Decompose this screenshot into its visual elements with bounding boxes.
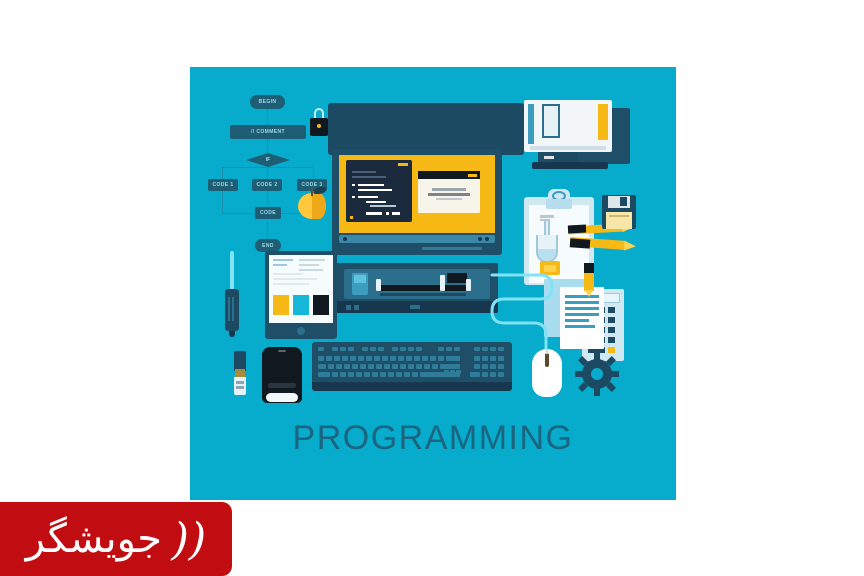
flow-node-code1[interactable]: CODE 1 [208, 179, 238, 191]
padlock-icon [310, 108, 328, 136]
flow-connector [267, 109, 268, 125]
code-editor-window[interactable] [346, 160, 412, 222]
flow-node-comment[interactable]: // COMMENT [230, 125, 306, 139]
gear-icon[interactable] [575, 352, 619, 396]
flow-connector [267, 221, 268, 239]
tablet-swatch [293, 295, 309, 315]
tablet-swatch [313, 295, 329, 315]
computer-mouse-icon[interactable] [532, 349, 562, 397]
logo-text: جویشگر [26, 519, 168, 559]
flow-node-code[interactable]: CODE [255, 207, 281, 219]
pencil-icon [582, 263, 596, 297]
flow-node-code2[interactable]: CODE 2 [252, 179, 282, 191]
orange-fruit-icon [298, 187, 328, 219]
flow-connector [267, 167, 268, 179]
logo-mark: )) [167, 514, 212, 565]
screwdriver-icon [225, 251, 239, 337]
desk-backdrop [328, 103, 524, 155]
flow-connector [222, 167, 314, 168]
flow-node-begin[interactable]: BEGIN [250, 95, 285, 109]
screenshot-root: BEGIN // COMMENT IF CODE 1 CODE 2 CODE 3… [0, 0, 864, 576]
flow-node-if[interactable]: IF [246, 153, 290, 167]
flow-connector [267, 191, 268, 205]
jooyeshgar-logo[interactable]: جویشگر )) [0, 502, 232, 576]
tablet-swatch [273, 295, 289, 315]
keyboard-icon[interactable] [312, 342, 512, 394]
tablet-icon[interactable] [265, 251, 337, 339]
browser-window[interactable] [418, 171, 480, 213]
flow-connector [313, 167, 314, 179]
page-title: PROGRAMMING [190, 419, 676, 458]
flow-connector [267, 139, 268, 153]
smartphone-icon[interactable] [262, 347, 302, 403]
printer-icon [524, 100, 630, 172]
pc-tower [336, 263, 498, 321]
programming-illustration: BEGIN // COMMENT IF CODE 1 CODE 2 CODE 3… [190, 67, 676, 500]
floppy-disk-icon [602, 195, 636, 229]
flow-connector [222, 191, 223, 213]
flow-connector [222, 167, 223, 179]
desktop-monitor [332, 149, 502, 273]
usb-drive-icon [232, 351, 248, 395]
